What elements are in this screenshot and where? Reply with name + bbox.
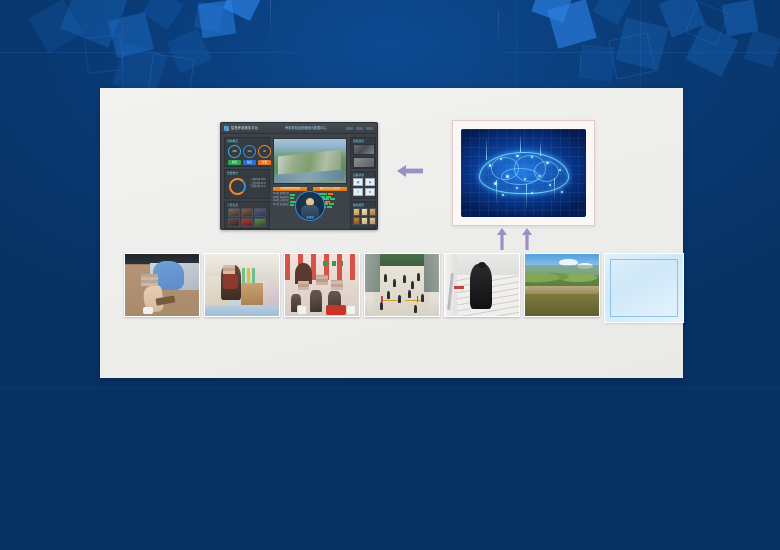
resident-profile-avatar[interactable]: 张建国 — [295, 191, 325, 221]
gauge-alarms[interactable]: 36 告警 — [258, 145, 271, 165]
decor-square — [615, 17, 668, 70]
camera-panel-title: 视频监控 — [353, 139, 364, 143]
face-pixelation-mask — [141, 274, 157, 286]
decor-streak — [270, 0, 271, 46]
decor-line — [122, 0, 123, 90]
meal-panel-title: 餐饮服务 — [353, 203, 364, 207]
staff-thumb[interactable] — [241, 208, 253, 217]
person-layer — [408, 290, 411, 298]
nav-item-icon[interactable] — [366, 127, 373, 130]
legend-item: 三级护理 21% — [250, 185, 266, 189]
person-layer — [380, 302, 383, 310]
nav-item-icon[interactable] — [356, 127, 363, 130]
meal-thumb[interactable] — [361, 208, 368, 216]
decor-square — [531, 0, 575, 23]
decor-line — [0, 52, 300, 53]
water-layer — [525, 294, 599, 316]
gauge-row: 268 在院 142 在床 36 告警 — [228, 145, 271, 165]
photo-park-lake[interactable] — [524, 253, 600, 317]
arrow-up-sensor-data — [522, 228, 532, 250]
device-icon[interactable]: ✚ — [365, 188, 375, 196]
gauge-value: 268 — [228, 145, 241, 158]
overview-panel-title: 机构概览 — [227, 139, 238, 143]
gauge-value: 142 — [243, 145, 256, 158]
meal-thumbnail-grid[interactable] — [353, 208, 376, 225]
neural-node — [524, 178, 526, 180]
decor-line — [0, 388, 780, 389]
neural-node — [516, 155, 519, 158]
device-icon[interactable]: ◉ — [365, 178, 375, 186]
decor-streak — [580, 54, 581, 84]
alarm-panel: 告警统计 一级护理 48% 二级护理 31% 三级护理 21% — [224, 169, 270, 199]
ai-brain-image — [461, 129, 586, 217]
gauge-value: 36 — [258, 145, 271, 158]
bottles-layer — [242, 268, 255, 284]
decor-square — [194, 2, 225, 33]
gauge-in-residence[interactable]: 268 在院 — [228, 145, 241, 165]
staff-panel-title: 人员信息 — [227, 203, 238, 207]
decor-square — [593, 0, 631, 25]
arrow-left-to-dashboard — [397, 164, 423, 178]
face-pixelation-mask — [223, 265, 235, 274]
decor-line — [516, 0, 517, 88]
data-beam — [540, 140, 541, 156]
decor-square — [198, 0, 236, 38]
meal-thumb[interactable] — [369, 208, 376, 216]
camera-panel: 视频监控 — [350, 137, 376, 169]
device-icon[interactable]: ▦ — [353, 178, 363, 186]
arrow-up-icon — [522, 228, 532, 250]
staff-thumb[interactable] — [241, 218, 253, 227]
neural-node — [506, 175, 509, 178]
staff-thumbnail-grid[interactable] — [228, 208, 266, 227]
staff-thumb[interactable] — [254, 208, 266, 217]
shoe-layer — [143, 307, 153, 313]
alert-events-bar[interactable]: 今日预警事件列表 — [273, 187, 307, 191]
barrier-layer — [381, 300, 399, 302]
person-layer — [411, 281, 414, 289]
staff-panel: 人员信息 — [224, 201, 270, 229]
neural-node — [489, 164, 492, 167]
person-layer — [470, 264, 492, 309]
staff-thumb[interactable] — [228, 208, 240, 217]
slide-canvas: 智慧养老服务平台 养老机构运营管理大数据中心 机构概览 268 在院 — [0, 0, 780, 550]
neural-node — [549, 184, 552, 187]
decor-square — [744, 30, 780, 68]
camera-feed[interactable] — [353, 144, 375, 155]
bucket-layer — [297, 305, 307, 315]
person-layer — [384, 274, 387, 282]
meal-service-panel: 餐饮服务 — [350, 201, 376, 229]
decor-square — [60, 0, 128, 48]
decor-layer — [323, 261, 342, 266]
person-layer — [414, 305, 417, 313]
data-beam — [526, 184, 527, 210]
meal-thumb[interactable] — [353, 217, 360, 225]
gauge-chip: 在床 — [243, 160, 256, 165]
person-layer — [387, 291, 390, 299]
building-left-layer — [365, 254, 380, 292]
decor-square — [167, 29, 212, 74]
decor-square — [578, 44, 615, 81]
decor-square — [721, 0, 758, 37]
photo-stairs-walking[interactable] — [444, 253, 520, 317]
gauge-chip: 在院 — [228, 160, 241, 165]
post-layer — [417, 296, 419, 302]
campus-3d-map[interactable] — [273, 138, 347, 184]
desk-layer — [241, 283, 263, 308]
device-icon[interactable]: ☷ — [353, 188, 363, 196]
decor-square — [685, 23, 738, 76]
alarm-panel-title: 告警统计 — [227, 171, 238, 175]
decor-square-outline — [685, 1, 729, 45]
photo-courtyard-aerial[interactable] — [364, 253, 440, 317]
smart-eldercare-command-dashboard[interactable]: 智慧养老服务平台 养老机构运营管理大数据中心 机构概览 268 在院 — [220, 122, 378, 230]
decor-square-outline — [84, 34, 124, 74]
person-layer — [421, 294, 424, 302]
staff-thumb[interactable] — [254, 218, 266, 227]
content-card: 智慧养老服务平台 养老机构运营管理大数据中心 机构概览 268 在院 — [100, 88, 683, 378]
overview-panel: 机构概览 268 在院 142 在床 36 告警 — [224, 137, 270, 167]
tree-layer — [525, 265, 599, 286]
care-level-legend: 一级护理 48% 二级护理 31% 三级护理 21% — [250, 178, 266, 189]
camera-feed[interactable] — [353, 157, 375, 168]
building-right-layer — [424, 254, 439, 292]
decor-line — [640, 0, 641, 96]
decor-square — [108, 12, 154, 58]
arrow-left-icon — [397, 164, 423, 178]
table-layer — [326, 305, 345, 315]
head-layer — [478, 262, 486, 268]
nav-item-icon[interactable] — [346, 127, 353, 130]
decor-square — [223, 0, 263, 21]
ai-brain-illustration[interactable] — [452, 120, 595, 226]
neural-node — [546, 162, 549, 165]
decor-line — [500, 52, 780, 53]
device-icon-grid[interactable]: ▦ ◉ ☷ ✚ — [353, 178, 375, 196]
decor-square — [142, 0, 184, 30]
floor-layer — [205, 305, 279, 316]
photo-activity-room[interactable] — [284, 253, 360, 317]
gauge-in-bed[interactable]: 142 在床 — [243, 145, 256, 165]
care-level-donut-chart — [229, 178, 246, 195]
face-pixelation-mask — [316, 275, 328, 285]
photo-placeholder-faded[interactable] — [604, 253, 684, 323]
decor-streak — [498, 10, 499, 50]
dashboard-nav-icons[interactable] — [346, 127, 373, 130]
scene-photo-strip — [124, 253, 688, 323]
meal-thumb[interactable] — [353, 208, 360, 216]
barrier-layer — [405, 300, 423, 302]
arrow-up-video-data — [497, 228, 507, 250]
handrail-accent-layer — [454, 286, 464, 289]
watchlist-bar[interactable]: 重点关注人员名单 — [313, 187, 347, 191]
avatar-label: 张建国 — [296, 215, 324, 219]
data-beam — [554, 178, 555, 200]
face-pixelation-mask — [298, 281, 308, 290]
neural-node — [559, 169, 561, 171]
meal-thumb[interactable] — [369, 217, 376, 225]
row-label: 507房 夜间外出 — [273, 204, 289, 207]
decor-square — [29, 0, 84, 53]
platform-logo-icon — [224, 126, 229, 131]
vest-layer — [223, 274, 238, 289]
decor-square — [547, 0, 596, 49]
neural-node — [500, 158, 502, 160]
photo-bedside-care[interactable] — [124, 253, 200, 317]
person-layer — [417, 273, 420, 281]
device-panel-title: 设备状态 — [353, 173, 364, 177]
neural-node — [561, 191, 563, 193]
device-status-panel: 设备状态 ▦ ◉ ☷ ✚ — [350, 171, 376, 199]
decor-square-outline — [608, 32, 655, 79]
person-layer — [398, 295, 401, 303]
dashboard-header: 智慧养老服务平台 养老机构运营管理大数据中心 — [221, 123, 377, 134]
data-beam — [486, 138, 487, 160]
dashboard-title: 智慧养老服务平台 — [231, 126, 258, 131]
data-beam — [520, 134, 521, 152]
person-layer — [310, 290, 322, 312]
bucket-layer — [346, 305, 356, 315]
face-pixelation-mask — [331, 280, 343, 290]
gauge-chip: 告警 — [258, 160, 271, 165]
staff-thumb[interactable] — [228, 218, 240, 227]
mat-layer — [156, 296, 176, 307]
decor-square — [659, 0, 706, 37]
data-beam — [496, 180, 497, 204]
dashboard-subtitle: 养老机构运营管理大数据中心 — [285, 126, 326, 131]
person-layer — [393, 279, 396, 287]
arrow-up-icon — [497, 228, 507, 250]
photo-room-resident[interactable] — [204, 253, 280, 317]
meal-thumb[interactable] — [361, 217, 368, 225]
